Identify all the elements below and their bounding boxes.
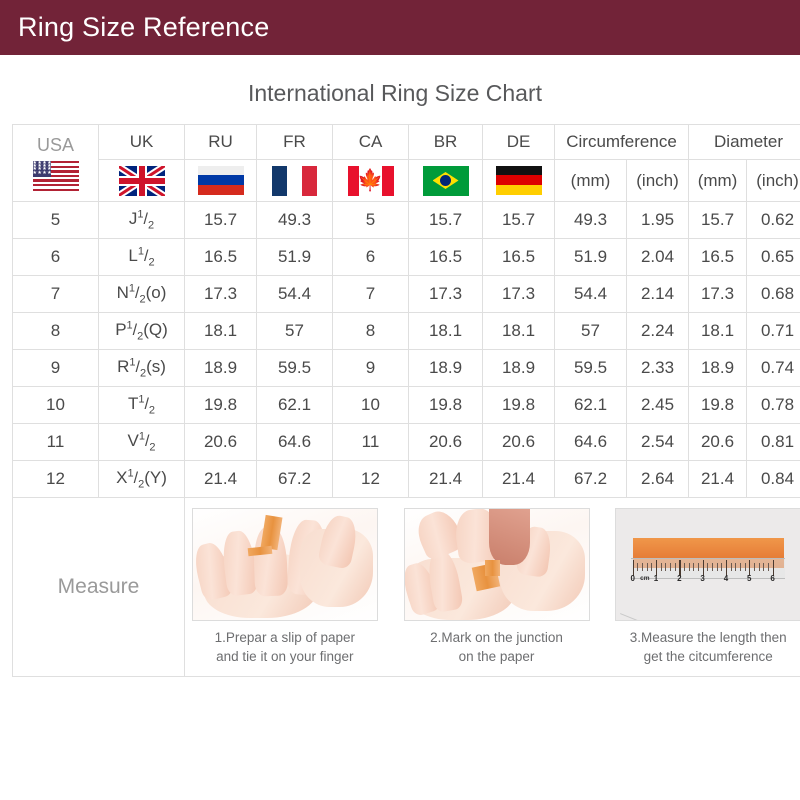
cell-usa-size: 11 bbox=[13, 424, 99, 461]
cell-ca: 6 bbox=[333, 239, 409, 276]
ruler-tick-minor bbox=[684, 563, 685, 572]
caption-line-2: and tie it on your finger bbox=[185, 648, 385, 666]
cell-br: 15.7 bbox=[409, 202, 483, 239]
ring-size-table: USA ★★★★★★★★★★★★★★★★★★★★★★★★ UK RU FR CA… bbox=[12, 124, 800, 677]
cell-uk-size: V1/2 bbox=[99, 424, 185, 461]
cell-circ-mm: 64.6 bbox=[555, 424, 627, 461]
cell-circ-inch: 2.45 bbox=[627, 387, 689, 424]
ruler-tick-minor bbox=[735, 563, 736, 572]
flag-germany-icon bbox=[496, 166, 542, 196]
ruler-tick-label: 2 bbox=[677, 574, 681, 583]
header-label-br: BR bbox=[409, 125, 483, 160]
cell-br: 19.8 bbox=[409, 387, 483, 424]
cell-diam-mm: 15.7 bbox=[689, 202, 747, 239]
header-cell-fr-flag bbox=[257, 160, 333, 202]
cell-ca: 12 bbox=[333, 461, 409, 498]
header-unit-diam-inch: (inch) bbox=[747, 160, 800, 202]
measure-step-2-caption: 2.Mark on the junction on the paper bbox=[397, 629, 597, 665]
table-row: 10T1/219.862.11019.819.862.12.4519.80.78 bbox=[13, 387, 800, 424]
cell-diam-mm: 20.6 bbox=[689, 424, 747, 461]
cell-diam-mm: 16.5 bbox=[689, 239, 747, 276]
ruler-tick-label: 0 bbox=[630, 574, 634, 583]
hand-with-paper-strip-photo bbox=[192, 508, 378, 621]
cell-fr: 67.2 bbox=[257, 461, 333, 498]
cell-circ-mm: 67.2 bbox=[555, 461, 627, 498]
measure-step-2: 2.Mark on the junction on the paper bbox=[397, 508, 597, 665]
cell-uk-size: N1/2(o) bbox=[99, 276, 185, 313]
ruler-tick-minor bbox=[642, 563, 643, 572]
cell-circ-mm: 54.4 bbox=[555, 276, 627, 313]
cell-de: 20.6 bbox=[483, 424, 555, 461]
header-label-ru: RU bbox=[185, 125, 257, 160]
cell-uk-size: X1/2(Y) bbox=[99, 461, 185, 498]
ruler-tick-minor bbox=[731, 563, 732, 572]
cell-circ-inch: 2.14 bbox=[627, 276, 689, 313]
measure-steps-cell: 1.Prepar a slip of paper and tie it on y… bbox=[185, 498, 800, 677]
cell-fr: 64.6 bbox=[257, 424, 333, 461]
cell-de: 16.5 bbox=[483, 239, 555, 276]
measure-label: Measure bbox=[58, 575, 140, 598]
ruler-tick-minor bbox=[693, 563, 694, 572]
cell-br: 18.1 bbox=[409, 313, 483, 350]
header-cell-ca-flag: 🍁 bbox=[333, 160, 409, 202]
ruler-tick-minor bbox=[698, 563, 699, 572]
cell-usa-size: 6 bbox=[13, 239, 99, 276]
cell-fr: 54.4 bbox=[257, 276, 333, 313]
cell-diam-inch: 0.71 bbox=[747, 313, 800, 350]
cell-de: 15.7 bbox=[483, 202, 555, 239]
header-cell-ru-flag bbox=[185, 160, 257, 202]
ruler-tick-minor bbox=[647, 563, 648, 572]
measure-step-3-caption: 3.Measure the length then get the citcum… bbox=[608, 629, 800, 665]
ruler-tick-minor bbox=[745, 563, 746, 572]
cell-br: 20.6 bbox=[409, 424, 483, 461]
cell-de: 19.8 bbox=[483, 387, 555, 424]
cell-circ-mm: 59.5 bbox=[555, 350, 627, 387]
header-label-uk: UK bbox=[99, 125, 185, 160]
cell-uk-size: T1/2 bbox=[99, 387, 185, 424]
table-row: 6L1/216.551.9616.516.551.92.0416.50.65 bbox=[13, 239, 800, 276]
measure-step-3: 0123456cm 3.Measure the length then get … bbox=[608, 508, 800, 665]
chart-title: International Ring Size Chart bbox=[0, 80, 800, 107]
page-title: Ring Size Reference bbox=[18, 12, 269, 43]
ruler-tick-minor bbox=[661, 563, 662, 572]
caption-line-2: get the citcumference bbox=[608, 648, 800, 666]
header-unit-diam-mm: (mm) bbox=[689, 160, 747, 202]
flag-france-icon bbox=[272, 166, 318, 196]
cell-ca: 7 bbox=[333, 276, 409, 313]
cell-br: 16.5 bbox=[409, 239, 483, 276]
cell-uk-size: L1/2 bbox=[99, 239, 185, 276]
ruler-tick-minor bbox=[759, 563, 760, 572]
cell-diam-inch: 0.68 bbox=[747, 276, 800, 313]
cell-ca: 8 bbox=[333, 313, 409, 350]
cell-ca: 11 bbox=[333, 424, 409, 461]
caption-line-1: 2.Mark on the junction bbox=[397, 629, 597, 647]
ruler-tick-label: 1 bbox=[654, 574, 658, 583]
header-cell-br-flag bbox=[409, 160, 483, 202]
caption-line-1: 3.Measure the length then bbox=[608, 629, 800, 647]
cell-usa-size: 10 bbox=[13, 387, 99, 424]
page-banner: Ring Size Reference bbox=[0, 0, 800, 55]
caption-line-1: 1.Prepar a slip of paper bbox=[185, 629, 385, 647]
cell-br: 18.9 bbox=[409, 350, 483, 387]
ruler-tick-minor bbox=[665, 563, 666, 572]
cell-circ-mm: 57 bbox=[555, 313, 627, 350]
cell-ru: 15.7 bbox=[185, 202, 257, 239]
cell-ru: 18.1 bbox=[185, 313, 257, 350]
header-cell-uk-flag bbox=[99, 160, 185, 202]
cell-ru: 20.6 bbox=[185, 424, 257, 461]
ruler-tick-minor bbox=[651, 563, 652, 572]
cell-usa-size: 7 bbox=[13, 276, 99, 313]
cell-ru: 17.3 bbox=[185, 276, 257, 313]
ruler-tick-minor bbox=[763, 563, 764, 572]
measure-row: Measure bbox=[13, 498, 800, 677]
ruler-unit-label: cm bbox=[640, 575, 649, 582]
ruler-tick-minor bbox=[707, 563, 708, 572]
ruler-tick-minor bbox=[675, 563, 676, 572]
table-container: USA ★★★★★★★★★★★★★★★★★★★★★★★★ UK RU FR CA… bbox=[0, 124, 800, 677]
cell-fr: 62.1 bbox=[257, 387, 333, 424]
cell-de: 21.4 bbox=[483, 461, 555, 498]
cell-de: 17.3 bbox=[483, 276, 555, 313]
header-unit-circ-mm: (mm) bbox=[555, 160, 627, 202]
measure-steps: 1.Prepar a slip of paper and tie it on y… bbox=[185, 508, 800, 665]
cell-diam-inch: 0.81 bbox=[747, 424, 800, 461]
cell-diam-inch: 0.84 bbox=[747, 461, 800, 498]
header-unit-circ-inch: (inch) bbox=[627, 160, 689, 202]
cell-fr: 59.5 bbox=[257, 350, 333, 387]
cell-circ-inch: 2.54 bbox=[627, 424, 689, 461]
ruler-tick-minor bbox=[670, 563, 671, 572]
cell-usa-size: 5 bbox=[13, 202, 99, 239]
flag-brazil-icon bbox=[423, 166, 469, 196]
cell-usa-size: 9 bbox=[13, 350, 99, 387]
header-label-fr: FR bbox=[257, 125, 333, 160]
flag-russia-icon bbox=[198, 166, 244, 196]
ruler-tick-minor bbox=[768, 563, 769, 572]
cell-de: 18.1 bbox=[483, 313, 555, 350]
cell-circ-inch: 1.95 bbox=[627, 202, 689, 239]
flag-canada-icon: 🍁 bbox=[348, 166, 394, 196]
table-row: 7N1/2(o)17.354.4717.317.354.42.1417.30.6… bbox=[13, 276, 800, 313]
header-cell-de-flag bbox=[483, 160, 555, 202]
ruler-tick-minor bbox=[712, 563, 713, 572]
cell-circ-inch: 2.24 bbox=[627, 313, 689, 350]
ruler-tick-minor bbox=[754, 563, 755, 572]
cell-uk-size: R1/2(s) bbox=[99, 350, 185, 387]
table-header-labels-row: USA ★★★★★★★★★★★★★★★★★★★★★★★★ UK RU FR CA… bbox=[13, 125, 800, 160]
measure-label-cell: Measure bbox=[13, 498, 185, 677]
ruler-tick-label: 5 bbox=[747, 574, 751, 583]
ruler-tick-minor bbox=[637, 563, 638, 572]
cell-diam-mm: 18.9 bbox=[689, 350, 747, 387]
ruler-tick-label: 4 bbox=[724, 574, 728, 583]
cell-circ-inch: 2.33 bbox=[627, 350, 689, 387]
cell-circ-mm: 51.9 bbox=[555, 239, 627, 276]
cell-br: 17.3 bbox=[409, 276, 483, 313]
cell-circ-mm: 49.3 bbox=[555, 202, 627, 239]
cell-diam-mm: 19.8 bbox=[689, 387, 747, 424]
header-label-usa: USA bbox=[13, 135, 98, 156]
cell-diam-mm: 21.4 bbox=[689, 461, 747, 498]
cell-uk-size: J1/2 bbox=[99, 202, 185, 239]
cell-diam-inch: 0.62 bbox=[747, 202, 800, 239]
ruler-tick-label: 6 bbox=[770, 574, 774, 583]
cell-fr: 57 bbox=[257, 313, 333, 350]
flag-uk-icon bbox=[119, 166, 165, 196]
table-row: 12X1/2(Y)21.467.21221.421.467.22.6421.40… bbox=[13, 461, 800, 498]
cell-ru: 21.4 bbox=[185, 461, 257, 498]
header-label-de: DE bbox=[483, 125, 555, 160]
ruler-tick-minor bbox=[721, 563, 722, 572]
cell-ru: 19.8 bbox=[185, 387, 257, 424]
table-row: 11V1/220.664.61120.620.664.62.5420.60.81 bbox=[13, 424, 800, 461]
cell-de: 18.9 bbox=[483, 350, 555, 387]
ruler-tick-minor bbox=[717, 563, 718, 572]
cell-diam-mm: 18.1 bbox=[689, 313, 747, 350]
cell-uk-size: P1/2(Q) bbox=[99, 313, 185, 350]
ruler-tick-minor bbox=[689, 563, 690, 572]
cell-br: 21.4 bbox=[409, 461, 483, 498]
table-body: 5J1/215.749.3515.715.749.31.9515.70.626L… bbox=[13, 202, 800, 498]
cell-diam-mm: 17.3 bbox=[689, 276, 747, 313]
cell-ca: 5 bbox=[333, 202, 409, 239]
ruler-measuring-paper-photo: 0123456cm bbox=[615, 508, 800, 621]
cell-usa-size: 12 bbox=[13, 461, 99, 498]
ruler-tick-label: 3 bbox=[700, 574, 704, 583]
flag-usa-icon: ★★★★★★★★★★★★★★★★★★★★★★★★ bbox=[33, 161, 79, 191]
measure-step-1: 1.Prepar a slip of paper and tie it on y… bbox=[185, 508, 385, 665]
cell-fr: 51.9 bbox=[257, 239, 333, 276]
cell-circ-inch: 2.64 bbox=[627, 461, 689, 498]
header-cell-usa: USA ★★★★★★★★★★★★★★★★★★★★★★★★ bbox=[13, 125, 99, 202]
table-row: 8P1/2(Q)18.157818.118.1572.2418.10.71 bbox=[13, 313, 800, 350]
caption-line-2: on the paper bbox=[397, 648, 597, 666]
ruler-tick-minor bbox=[740, 563, 741, 572]
header-label-ca: CA bbox=[333, 125, 409, 160]
marking-paper-on-finger-photo bbox=[404, 508, 590, 621]
cell-ca: 9 bbox=[333, 350, 409, 387]
table-row: 9R1/2(s)18.959.5918.918.959.52.3318.90.7… bbox=[13, 350, 800, 387]
table-row: 5J1/215.749.3515.715.749.31.9515.70.62 bbox=[13, 202, 800, 239]
cell-ru: 16.5 bbox=[185, 239, 257, 276]
cell-diam-inch: 0.74 bbox=[747, 350, 800, 387]
cell-circ-mm: 62.1 bbox=[555, 387, 627, 424]
cell-usa-size: 8 bbox=[13, 313, 99, 350]
cell-diam-inch: 0.65 bbox=[747, 239, 800, 276]
header-label-diameter: Diameter bbox=[689, 125, 800, 160]
cell-ru: 18.9 bbox=[185, 350, 257, 387]
cell-fr: 49.3 bbox=[257, 202, 333, 239]
cell-diam-inch: 0.78 bbox=[747, 387, 800, 424]
cell-ca: 10 bbox=[333, 387, 409, 424]
cell-circ-inch: 2.04 bbox=[627, 239, 689, 276]
header-label-circumference: Circumference bbox=[555, 125, 689, 160]
table-header-flags-row: 🍁 (mm) (inch) (mm) (inch) bbox=[13, 160, 800, 202]
measure-step-1-caption: 1.Prepar a slip of paper and tie it on y… bbox=[185, 629, 385, 665]
